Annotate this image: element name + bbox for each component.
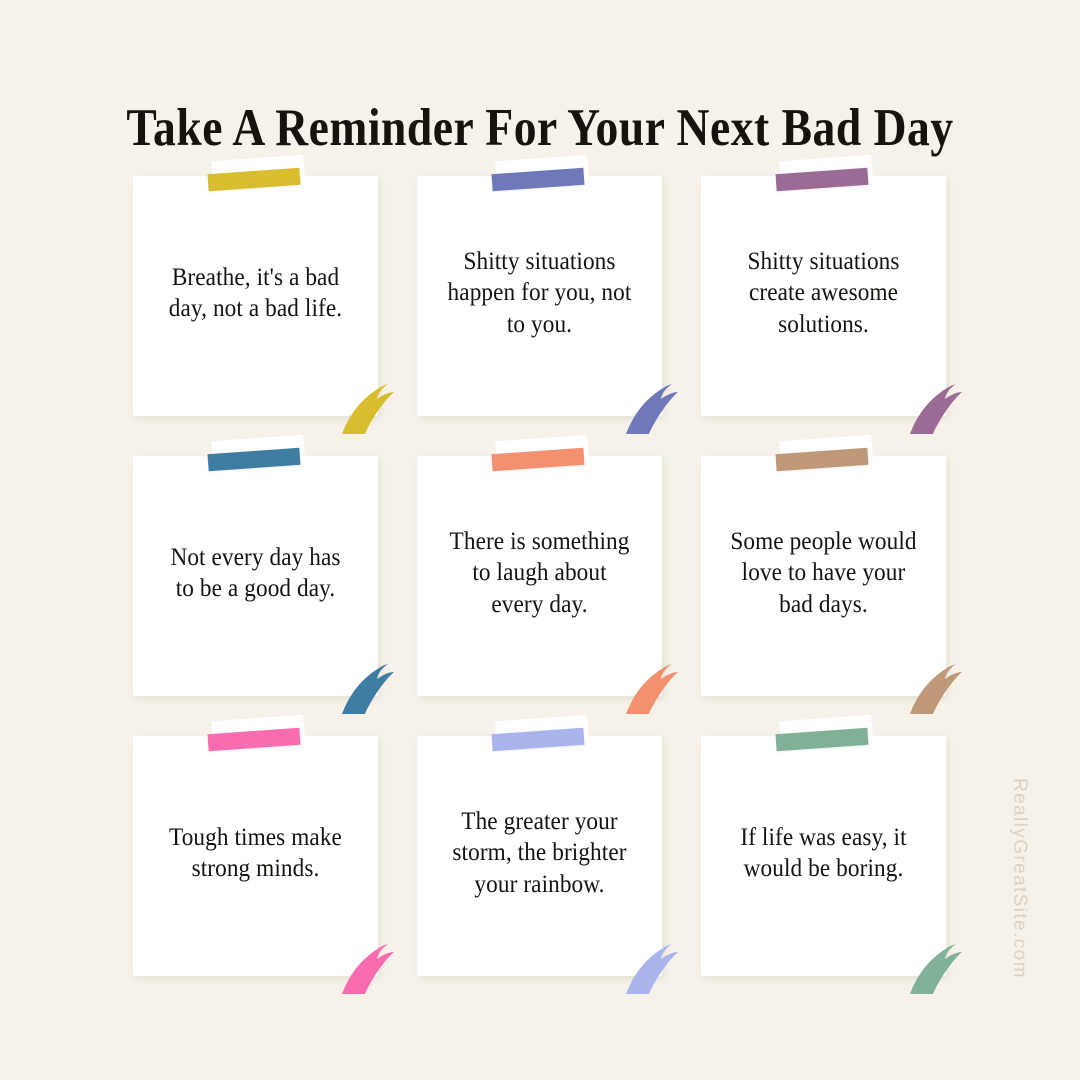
- poster-canvas: Take A Reminder For Your Next Bad Day Br…: [0, 0, 1080, 1080]
- quote-card[interactable]: If life was easy, it would be boring.: [701, 736, 946, 976]
- quote-card[interactable]: The greater your storm, the brighter you…: [417, 736, 662, 976]
- quote-text: Some people would love to have your bad …: [710, 526, 938, 621]
- page-title: Take A Reminder For Your Next Bad Day: [76, 98, 1005, 159]
- quote-text: Tough times make strong minds.: [142, 822, 370, 885]
- quote-text: Shitty situations create awesome solutio…: [710, 246, 938, 341]
- page-curl-icon: [612, 932, 678, 994]
- page-curl-icon: [896, 372, 962, 434]
- quote-card[interactable]: Shitty situations create awesome solutio…: [701, 176, 946, 416]
- watermark-label: ReallyGreatSite.com: [1008, 778, 1030, 979]
- quote-card[interactable]: Shitty situations happen for you, not to…: [417, 176, 662, 416]
- quote-card[interactable]: There is something to laugh about every …: [417, 456, 662, 696]
- page-curl-icon: [896, 932, 962, 994]
- quote-text: There is something to laugh about every …: [426, 526, 654, 621]
- page-curl-icon: [328, 372, 394, 434]
- quote-card[interactable]: Breathe, it's a bad day, not a bad life.: [133, 176, 378, 416]
- quote-text: Not every day has to be a good day.: [142, 542, 370, 605]
- quote-text: If life was easy, it would be boring.: [710, 822, 938, 885]
- page-curl-icon: [328, 652, 394, 714]
- quote-card[interactable]: Tough times make strong minds.: [133, 736, 378, 976]
- quote-text: Breathe, it's a bad day, not a bad life.: [142, 262, 370, 325]
- page-curl-icon: [328, 932, 394, 994]
- page-curl-icon: [612, 652, 678, 714]
- quote-card[interactable]: Some people would love to have your bad …: [701, 456, 946, 696]
- page-curl-icon: [896, 652, 962, 714]
- quote-text: The greater your storm, the brighter you…: [426, 806, 654, 901]
- watermark: ReallyGreatSite.com: [1030, 778, 1060, 1058]
- quote-card-grid: Breathe, it's a bad day, not a bad life.…: [133, 176, 945, 976]
- quote-text: Shitty situations happen for you, not to…: [426, 246, 654, 341]
- page-curl-icon: [612, 372, 678, 434]
- quote-card[interactable]: Not every day has to be a good day.: [133, 456, 378, 696]
